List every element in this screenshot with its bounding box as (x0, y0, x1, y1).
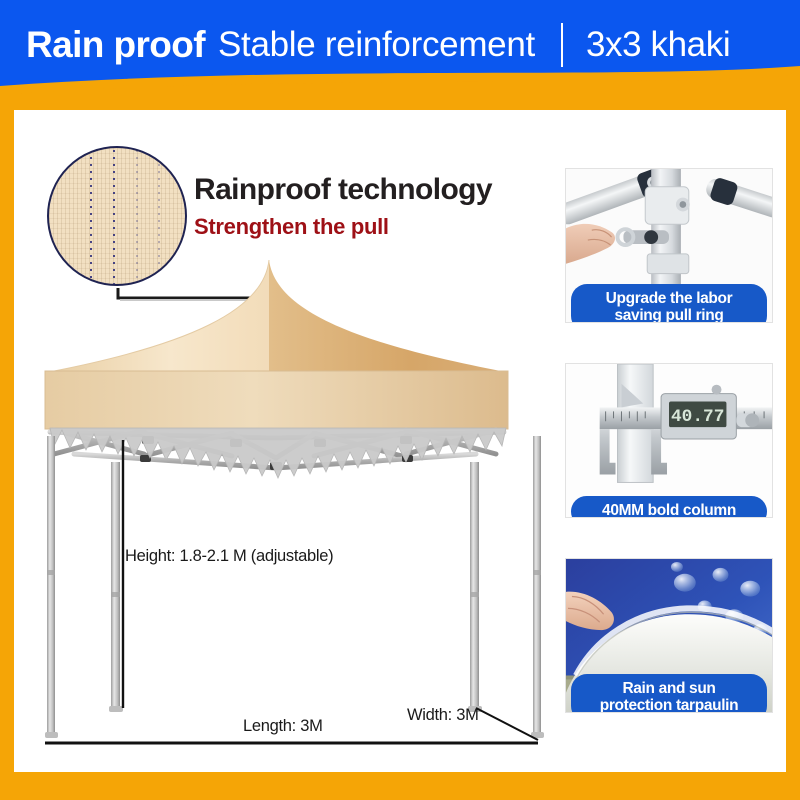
feature-subtitle: Strengthen the pull (194, 214, 389, 240)
feature-title: Rainproof technology (194, 173, 492, 207)
caliper-reading: 40.77 (671, 407, 724, 427)
caption-line-1: Rain and sun (622, 680, 715, 697)
feature-panel-tarpaulin[interactable]: Rain and sun protection tarpaulin (565, 558, 773, 713)
caption-line-1: Upgrade the labor (606, 290, 733, 307)
panel-caption: 40MM bold column (571, 496, 767, 518)
caption-line-2: protection tarpaulin (600, 697, 739, 713)
infographic-page: Rain proof Stable reinforcement 3x3 khak… (0, 0, 800, 800)
feature-panel-bold-column[interactable]: 40.77 40MM bold column (565, 363, 773, 518)
tent-diagram (14, 240, 554, 760)
panel-caption: Upgrade the labor saving pull ring (571, 284, 767, 323)
header-text-row: Rain proof Stable reinforcement 3x3 khak… (0, 0, 800, 90)
caption-line-1: 40MM bold column (602, 502, 736, 518)
caption-line-2: saving pull ring (615, 307, 724, 323)
caliper-photo: 40.77 (566, 364, 772, 517)
width-dimension-label: Width: 3M (407, 706, 479, 725)
header-title-regular: Stable reinforcement (218, 25, 535, 65)
feature-panel-pull-ring[interactable]: Upgrade the labor saving pull ring (565, 168, 773, 323)
header-banner: Rain proof Stable reinforcement 3x3 khak… (0, 0, 800, 104)
header-title-bold: Rain proof (26, 24, 205, 66)
header-divider (561, 23, 563, 67)
header-size-badge: 3x3 khaki (586, 25, 730, 65)
panel-caption: Rain and sun protection tarpaulin (571, 674, 767, 713)
length-dimension-label: Length: 3M (243, 717, 323, 736)
height-dimension-label: Height: 1.8-2.1 M (adjustable) (125, 547, 333, 566)
